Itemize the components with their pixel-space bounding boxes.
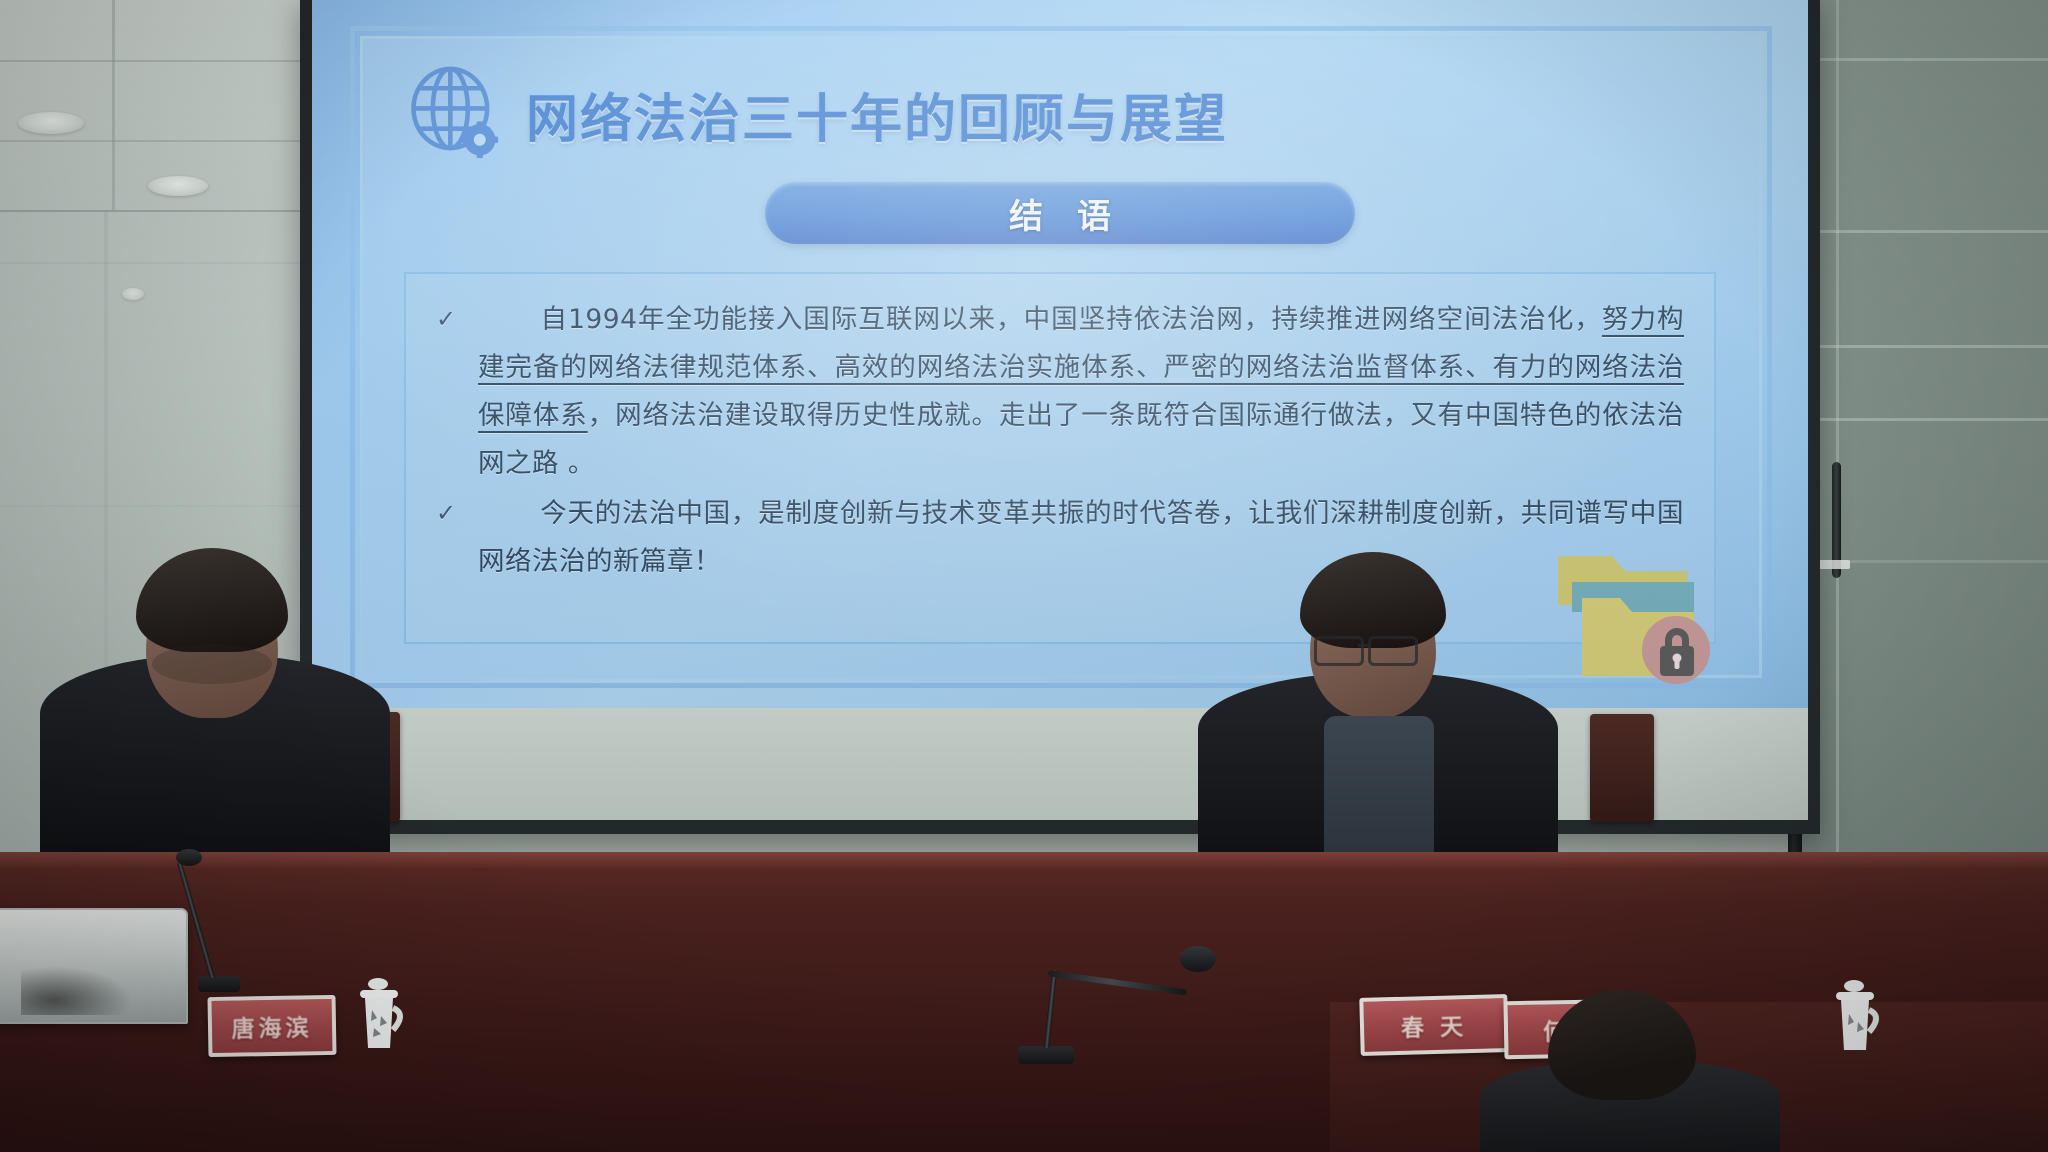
wall-seam	[0, 505, 340, 507]
check-icon: ✓	[436, 306, 462, 332]
conference-room-photo: 网络法治三十年的回顾与展望 结语 ✓ 自1994年全功能接入国际互联网以来，中国…	[0, 0, 2048, 1152]
slide-bullet: ✓ 自1994年全功能接入国际互联网以来，中国坚持依法治网，持续推进网络空间法治…	[436, 296, 1684, 488]
ceiling-seam-vertical	[112, 0, 115, 210]
projection-screen: 网络法治三十年的回顾与展望 结语 ✓ 自1994年全功能接入国际互联网以来，中国…	[300, 0, 1820, 834]
chair-back	[1590, 714, 1654, 822]
eyeglasses-left-lens	[1314, 636, 1364, 666]
eyeglasses-right-lens	[1368, 636, 1418, 666]
microphone-center	[1000, 954, 1220, 1064]
section-pill-label: 结语	[975, 189, 1145, 238]
microphone-head	[1180, 946, 1216, 972]
person-right	[1228, 540, 1528, 860]
teacup-right	[1824, 978, 1888, 1056]
microphone-base	[198, 976, 240, 992]
ceiling-downlight	[122, 288, 144, 300]
nameplate-right-secondary-text: 春 天	[1401, 1007, 1468, 1043]
section-pill-wrap: 结语	[312, 182, 1808, 244]
ceiling-downlight	[148, 176, 208, 196]
glass-seam	[1788, 58, 2048, 61]
nameplate-right-secondary: 春 天	[1359, 994, 1508, 1056]
bullet-segment: 自1994年全功能接入国际互联网以来，中国坚持依法治网，持续推进网络空间法治化，	[540, 304, 1602, 335]
folder-lock-icon	[1552, 540, 1734, 690]
microphone-arm	[1048, 970, 1187, 995]
microphone-base	[1018, 1046, 1074, 1064]
wall-seam	[0, 262, 340, 264]
presentation-slide: 网络法治三十年的回顾与展望 结语 ✓ 自1994年全功能接入国际互联网以来，中国…	[312, 0, 1808, 712]
ceiling-seam	[0, 60, 340, 62]
section-pill: 结语	[765, 182, 1355, 244]
glass-seam	[1788, 230, 2048, 233]
glass-seam	[1788, 418, 2048, 421]
bullet-segment: ，网络法治建设取得历史性成就。走出了一条既符合国际通行做法，又有中国特色的依法治…	[478, 400, 1684, 479]
nameplate-left: 唐海滨	[207, 995, 336, 1057]
microphone-stem	[177, 862, 215, 979]
ceiling-seam	[0, 140, 340, 142]
glass-seam	[1788, 345, 2048, 348]
microphone-head	[176, 849, 202, 866]
eyeglasses-bridge	[1358, 644, 1370, 647]
person-left-hair	[136, 548, 288, 652]
check-icon: ✓	[436, 500, 462, 526]
slide-title: 网络法治三十年的回顾与展望	[526, 77, 1228, 152]
ceiling-downlight	[18, 112, 84, 134]
nameplate-left-text: 唐海滨	[231, 1008, 313, 1043]
person-right-hair	[1300, 552, 1446, 648]
screen-surface: 网络法治三十年的回顾与展望 结语 ✓ 自1994年全功能接入国际互联网以来，中国…	[312, 0, 1808, 820]
screen-lower-blank-area	[312, 708, 1808, 820]
microphone-stem	[1044, 970, 1057, 1048]
person-right-shirt	[1324, 716, 1434, 866]
person-left	[60, 532, 380, 862]
teacup-left	[348, 976, 412, 1054]
slide-title-row: 网络法治三十年的回顾与展望	[408, 66, 1712, 162]
person-left-face-shadow	[152, 644, 272, 684]
table-front-edge	[0, 852, 2048, 868]
microphone-left	[150, 852, 270, 992]
globe-gear-icon	[408, 66, 500, 162]
